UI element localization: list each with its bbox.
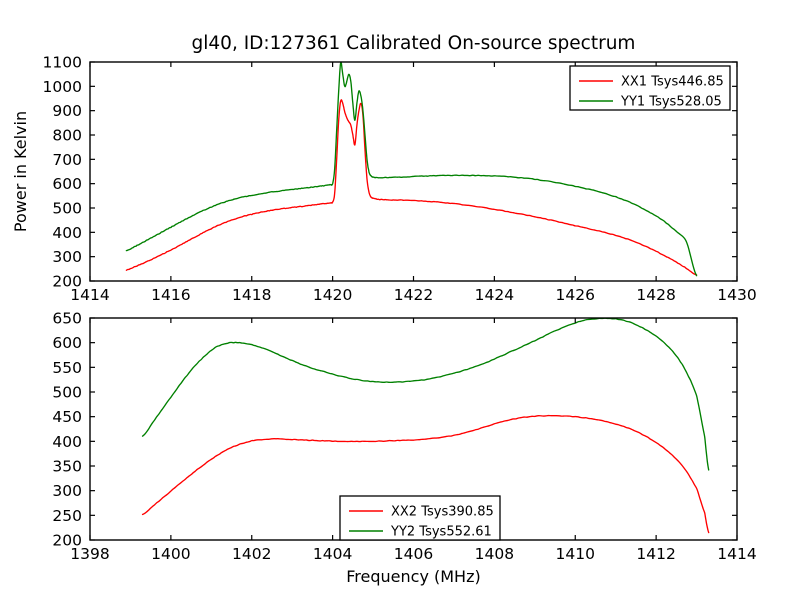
- x-tick-label-bottom: 1408: [475, 545, 514, 563]
- y-tick-label-bottom: 600: [52, 334, 82, 352]
- y-tick-label-top: 700: [52, 151, 82, 169]
- y-tick-label-top: 400: [52, 224, 82, 242]
- legend-label-yy1: YY1 Tsys528.05: [620, 95, 722, 110]
- y-tick-label-top: 1000: [43, 78, 82, 96]
- y-tick-label-bottom: 300: [52, 482, 82, 500]
- x-tick-label-bottom: 1404: [313, 545, 352, 563]
- y-tick-label-bottom: 550: [52, 359, 82, 377]
- x-axis-label: Frequency (MHz): [346, 567, 480, 586]
- y-tick-label-top: 300: [52, 248, 82, 266]
- chart-title: gl40, ID:127361 Calibrated On-source spe…: [192, 33, 636, 54]
- x-tick-label-top: 1416: [151, 286, 190, 304]
- plot-canvas: 1414141614181420142214241426142814302003…: [0, 0, 800, 600]
- matplotlib-figure: 1414141614181420142214241426142814302003…: [0, 0, 800, 600]
- y-tick-label-top: 600: [52, 175, 82, 193]
- x-tick-label-bottom: 1406: [394, 545, 433, 563]
- legend-label-xx1: XX1 Tsys446.85: [621, 75, 724, 90]
- x-tick-label-top: 1424: [475, 286, 514, 304]
- x-tick-label-top: 1430: [717, 286, 756, 304]
- x-tick-label-top: 1418: [232, 286, 271, 304]
- x-tick-label-top: 1422: [394, 286, 433, 304]
- x-tick-label-bottom: 1410: [556, 545, 595, 563]
- x-tick-label-bottom: 1414: [717, 545, 756, 563]
- y-tick-label-bottom: 450: [52, 408, 82, 426]
- x-tick-label-bottom: 1400: [151, 545, 190, 563]
- y-tick-label-bottom: 400: [52, 433, 82, 451]
- y-tick-label-bottom: 650: [52, 310, 82, 328]
- x-tick-label-bottom: 1412: [636, 545, 675, 563]
- y-tick-label-top: 500: [52, 200, 82, 218]
- x-tick-label-bottom: 1402: [232, 545, 271, 563]
- legend-label-yy2: YY2 Tsys552.61: [390, 525, 492, 540]
- y-axis-label: Power in Kelvin: [11, 111, 30, 232]
- y-tick-label-bottom: 200: [52, 532, 82, 550]
- legend-label-xx2: XX2 Tsys390.85: [391, 505, 494, 520]
- x-tick-label-top: 1426: [556, 286, 595, 304]
- y-tick-label-bottom: 500: [52, 384, 82, 402]
- y-tick-label-bottom: 250: [52, 507, 82, 525]
- y-tick-label-top: 200: [52, 273, 82, 291]
- legend-top[interactable]: XX1 Tsys446.85YY1 Tsys528.05: [570, 66, 730, 110]
- y-tick-label-bottom: 350: [52, 458, 82, 476]
- x-tick-label-top: 1420: [313, 286, 352, 304]
- x-tick-label-top: 1428: [636, 286, 675, 304]
- y-tick-label-top: 1100: [43, 54, 82, 72]
- legend-bottom[interactable]: XX2 Tsys390.85YY2 Tsys552.61: [340, 496, 500, 540]
- y-tick-label-top: 900: [52, 102, 82, 120]
- y-tick-label-top: 800: [52, 127, 82, 145]
